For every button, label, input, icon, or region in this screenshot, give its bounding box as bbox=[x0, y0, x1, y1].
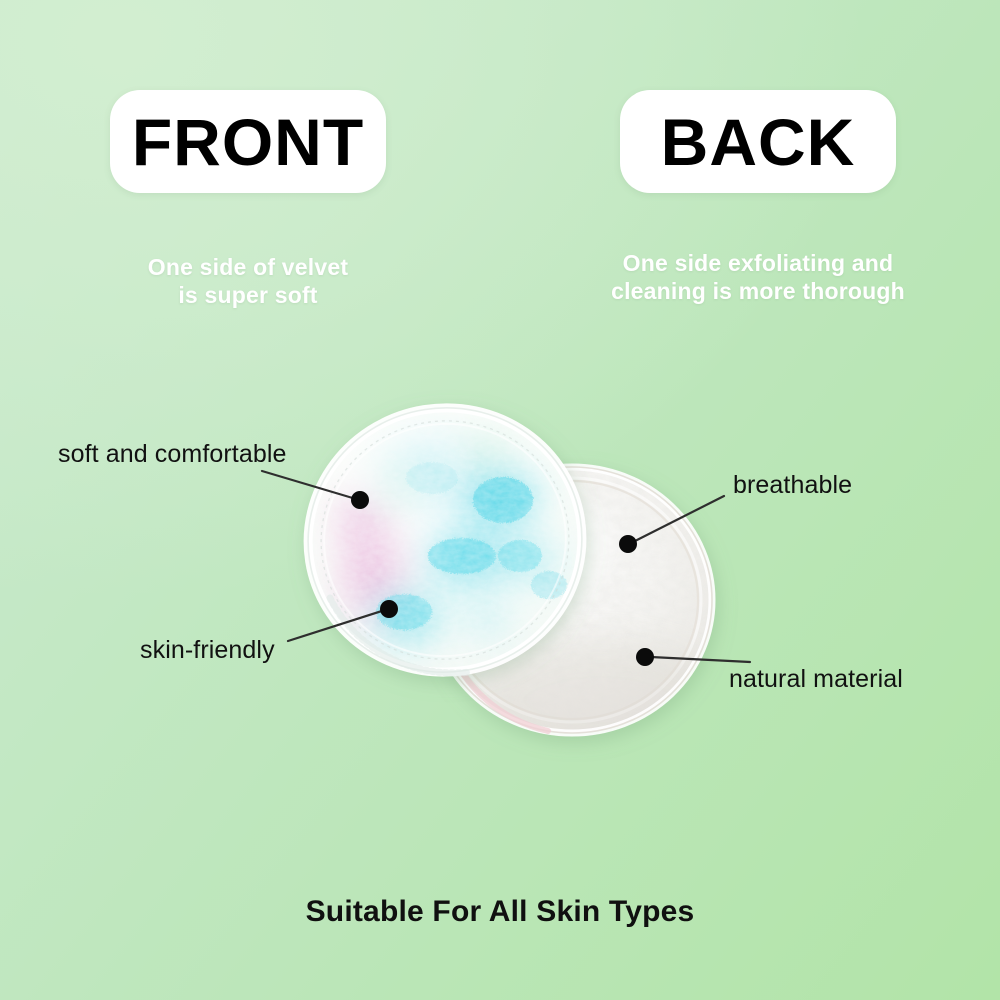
callout-dot-skin-friendly bbox=[380, 600, 398, 618]
callout-dot-breathable bbox=[619, 535, 637, 553]
footer-tagline: Suitable For All Skin Types bbox=[0, 895, 1000, 929]
callout-dot-soft-and-comfortable bbox=[351, 491, 369, 509]
callout-label-skin-friendly: skin-friendly bbox=[140, 636, 275, 665]
leader-soft-and-comfortable bbox=[262, 471, 369, 509]
leader-natural-material bbox=[636, 648, 750, 666]
callout-label-breathable: breathable bbox=[733, 471, 852, 500]
callout-dot-natural-material bbox=[636, 648, 654, 666]
callout-leader-lines bbox=[0, 0, 1000, 1000]
leader-breathable bbox=[619, 496, 724, 553]
leader-skin-friendly bbox=[288, 600, 398, 641]
product-infographic-poster: FRONT BACK One side of velvet is super s… bbox=[0, 0, 1000, 1000]
callout-label-natural-material: natural material bbox=[729, 665, 903, 694]
callout-label-soft-and-comfortable: soft and comfortable bbox=[58, 440, 287, 469]
